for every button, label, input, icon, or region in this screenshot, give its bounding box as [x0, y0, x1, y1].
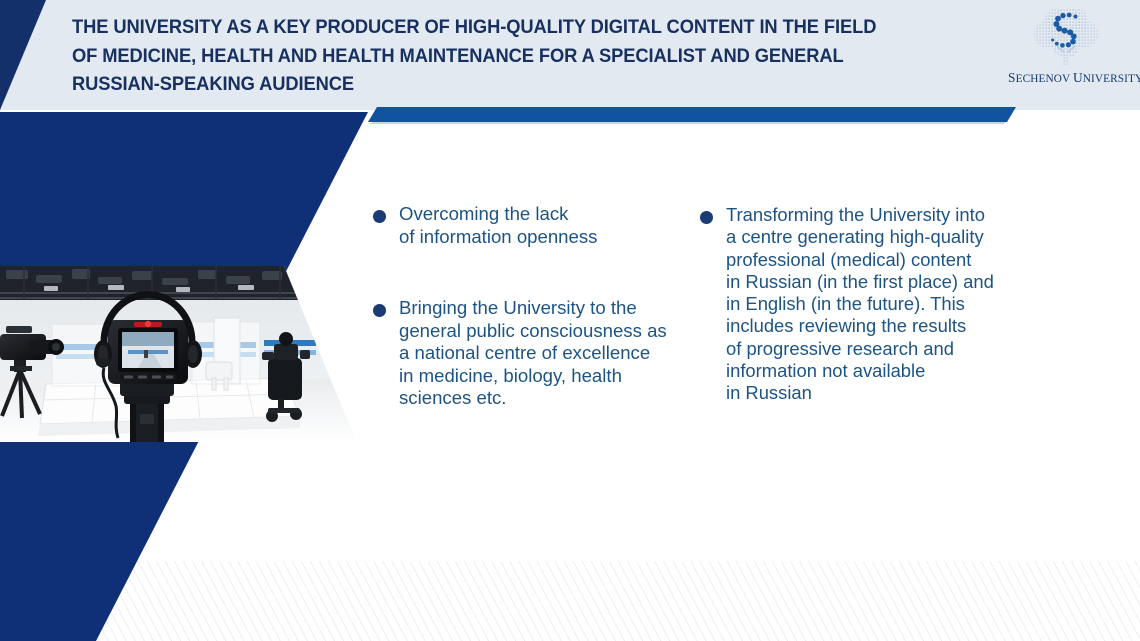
bullet-item-overcoming-lack-of-openness: Overcoming the lack of information openn…	[373, 203, 673, 248]
bullet-dot-icon	[373, 304, 386, 317]
bullet-dot-icon	[373, 210, 386, 223]
bullet-item-bringing-university-to-public: Bringing the University to the general p…	[373, 297, 693, 410]
bullet-text: Overcoming the lack of information openn…	[399, 203, 673, 248]
bullet-dot-icon	[700, 211, 713, 224]
bullet-text: Bringing the University to the general p…	[399, 297, 693, 410]
bullet-text: Transforming the University into a centr…	[726, 204, 1030, 405]
bullet-list: Overcoming the lack of information openn…	[0, 0, 1140, 641]
slide-canvas: THE UNIVERSITY AS A KEY PRODUCER OF HIGH…	[0, 0, 1140, 641]
bullet-item-transforming-into-content-centre: Transforming the University into a centr…	[700, 204, 1030, 405]
